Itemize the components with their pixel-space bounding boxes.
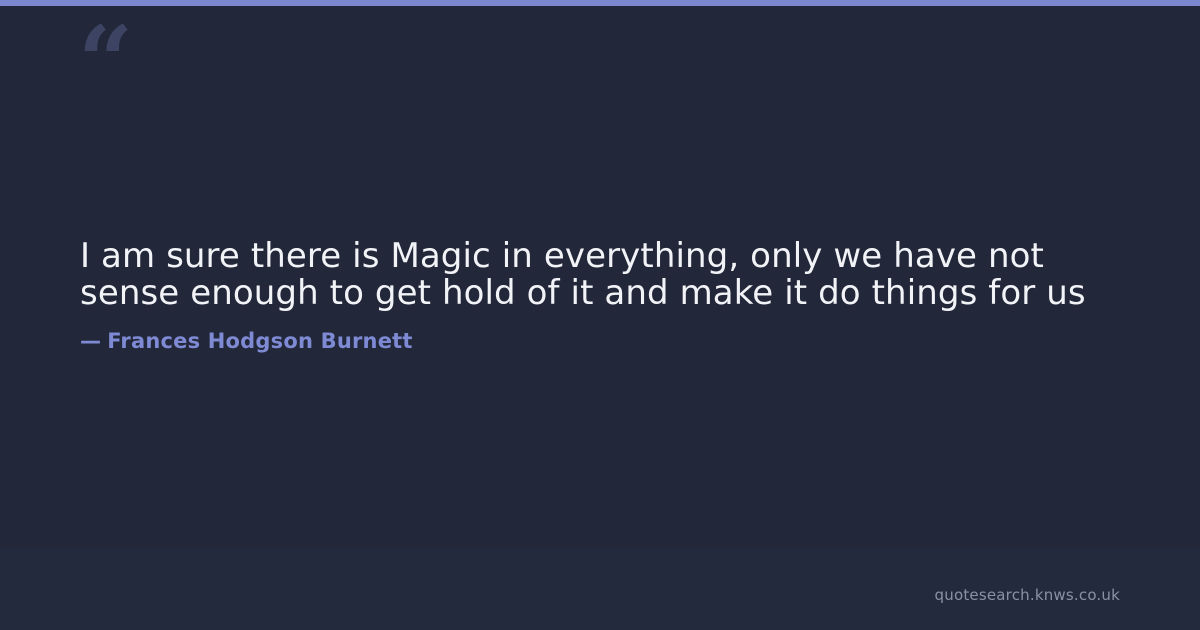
quotation-mark-icon: “	[78, 14, 131, 110]
attribution-dash: —	[80, 329, 101, 353]
site-watermark: quotesearch.knws.co.uk	[935, 586, 1120, 604]
quote-attribution: —Frances Hodgson Burnett	[80, 328, 1100, 354]
quote-text: I am sure there is Magic in everything, …	[80, 238, 1092, 312]
attribution-author: Frances Hodgson Burnett	[107, 329, 412, 353]
quote-content: I am sure there is Magic in everything, …	[80, 238, 1100, 354]
top-accent-bar	[0, 0, 1200, 6]
quote-card: “ I am sure there is Magic in everything…	[0, 0, 1200, 630]
